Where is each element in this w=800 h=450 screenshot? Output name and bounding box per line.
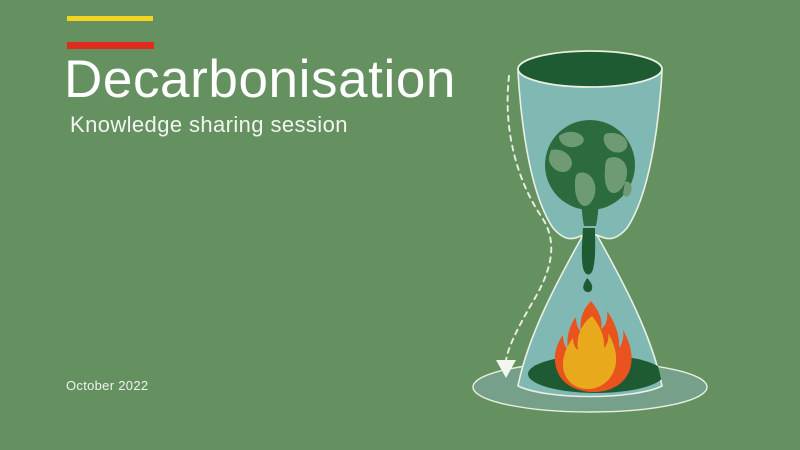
accent-bar-yellow [67,16,153,21]
slide-date: October 2022 [66,378,148,393]
hourglass-top-rim [518,51,662,87]
neck-drip [582,228,595,275]
hourglass-earth-flame-illustration [455,30,725,420]
page-subtitle: Knowledge sharing session [70,112,348,138]
accent-bar-red [67,42,154,49]
page-title: Decarbonisation [64,52,456,108]
title-slide: Decarbonisation Knowledge sharing sessio… [0,0,800,450]
oil-pool-droplet [534,364,544,369]
